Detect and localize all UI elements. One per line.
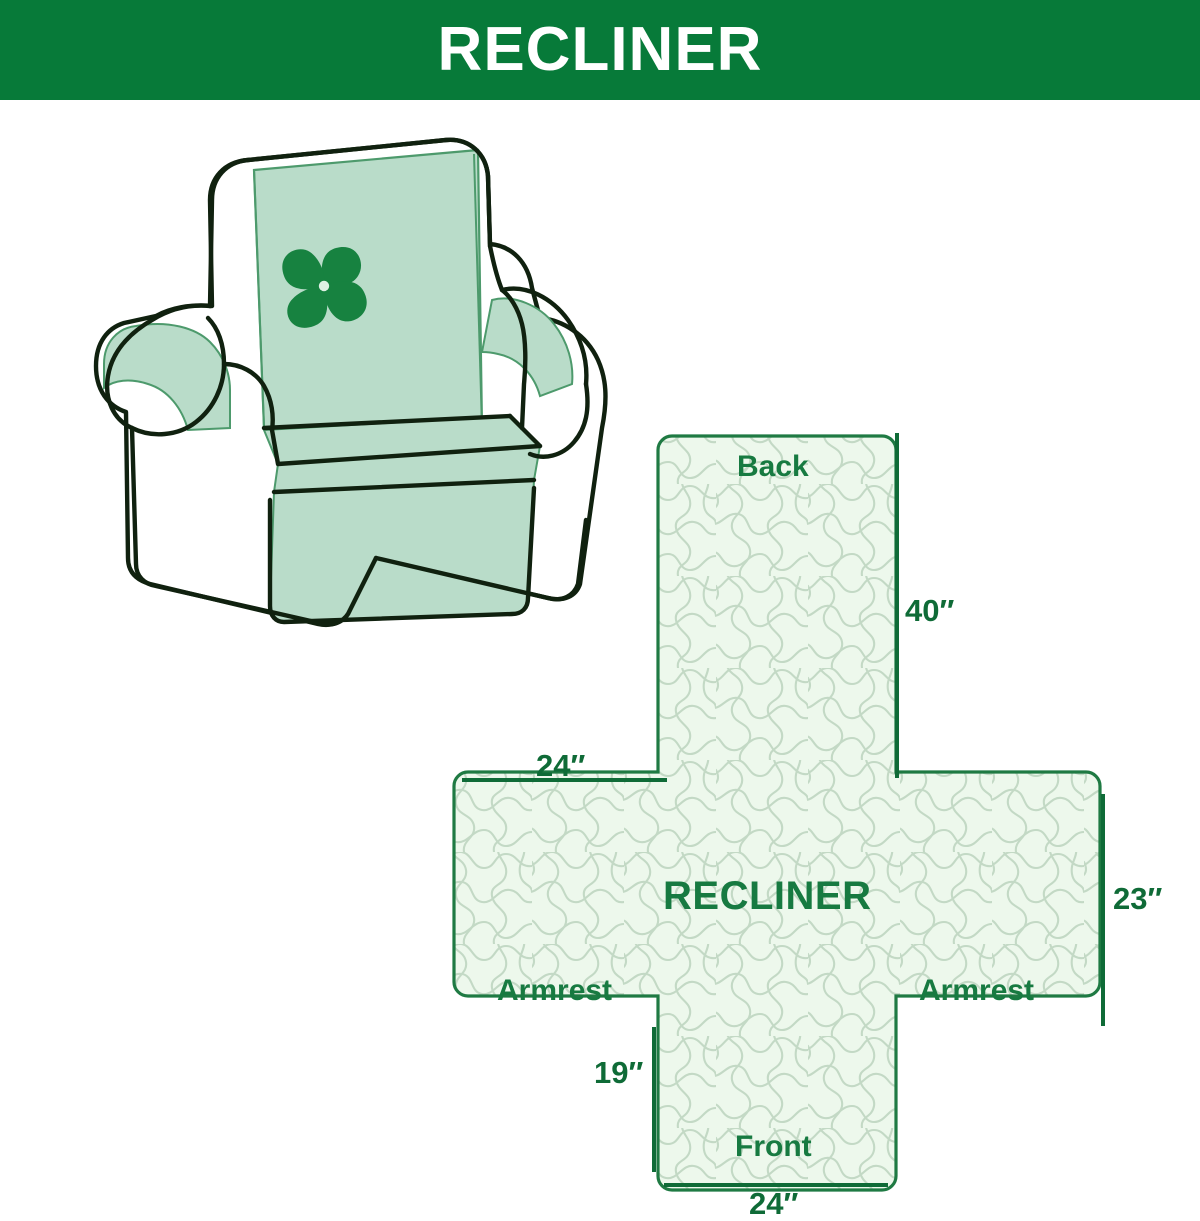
page-title: RECLINER	[438, 19, 763, 81]
panel-label-back: Back	[737, 452, 809, 482]
dimension-line-back-height	[895, 433, 899, 778]
dimension-label-front-width: 24″	[749, 1188, 798, 1219]
dimension-label-front-height: 19″	[594, 1057, 643, 1088]
panel-label-front: Front	[735, 1132, 812, 1162]
cross-pattern-shape	[454, 436, 1100, 1190]
diagram-stage: Back RECLINER Armrest Armrest Front 40″ …	[0, 100, 1200, 1200]
pinwheel-fan-icon	[282, 247, 366, 328]
dimension-line-seat-depth	[1101, 794, 1105, 1026]
panel-label-center: RECLINER	[663, 876, 871, 916]
dimension-label-seat-depth: 23″	[1113, 883, 1162, 914]
dimension-label-back-height: 40″	[905, 595, 954, 626]
panel-label-armrest-right: Armrest	[919, 976, 1034, 1006]
dimension-label-armrest-width: 24″	[536, 750, 585, 781]
dimension-line-front-height	[652, 1027, 656, 1172]
header-banner: RECLINER	[0, 0, 1200, 100]
panel-label-armrest-left: Armrest	[497, 976, 612, 1006]
